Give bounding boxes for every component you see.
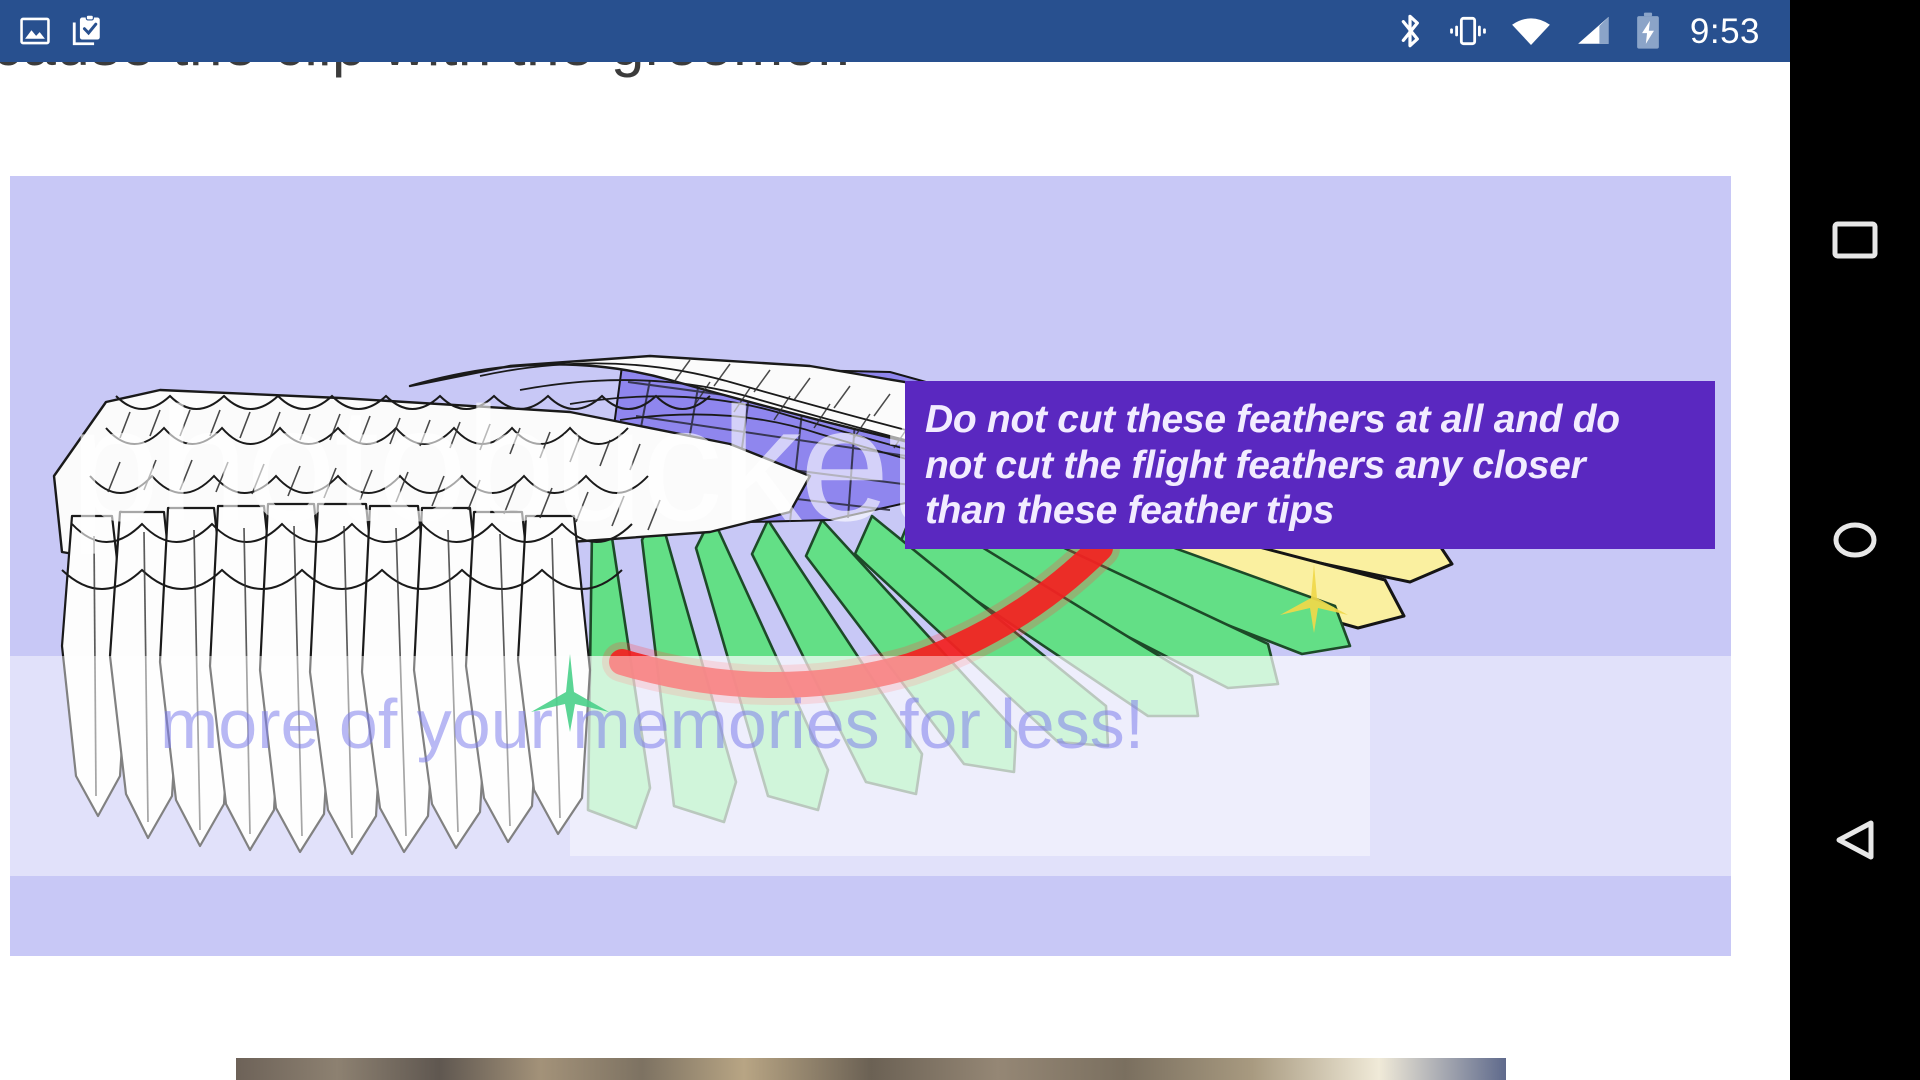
caption-do-not-cut: Do not cut these feathers at all and do …: [905, 381, 1715, 549]
caption-purple-line-2: not cut the flight feathers any closer: [925, 443, 1697, 489]
wing-illustration: [10, 176, 1731, 956]
cell-signal-icon: [1574, 14, 1612, 48]
web-page-content[interactable]: cause the clip with the groomer.: [0, 0, 1790, 1080]
vibrate-icon: [1448, 14, 1488, 48]
triangle-icon: [1827, 812, 1883, 868]
screenshot-image-icon: [18, 14, 52, 48]
home-button[interactable]: [1790, 475, 1920, 605]
next-article-image[interactable]: [236, 1058, 1506, 1080]
status-bar-clock: 9:53: [1690, 14, 1760, 49]
device-screen: cause the clip with the groomer.: [0, 0, 1920, 1080]
clipboard-check-icon: [70, 14, 104, 48]
caption-purple-line-3: than these feather tips: [925, 488, 1697, 534]
circle-icon: [1827, 512, 1883, 568]
status-bar-right-icons: 9:53: [1394, 0, 1760, 62]
android-navigation-bar[interactable]: [1790, 0, 1920, 1080]
back-button[interactable]: [1790, 775, 1920, 905]
status-bar[interactable]: 9:53: [0, 0, 1790, 62]
battery-charging-icon: [1634, 12, 1662, 50]
phone-content-area: cause the clip with the groomer.: [0, 0, 1790, 1080]
recents-button[interactable]: [1790, 175, 1920, 305]
bluetooth-icon: [1394, 11, 1426, 51]
wifi-icon: [1510, 14, 1552, 48]
caption-purple-line-1: Do not cut these feathers at all and do: [925, 397, 1697, 443]
square-icon: [1827, 212, 1883, 268]
status-bar-left-icons: [18, 0, 104, 62]
wing-diagram-figure[interactable]: photobucket more of your memories for le…: [10, 176, 1731, 956]
